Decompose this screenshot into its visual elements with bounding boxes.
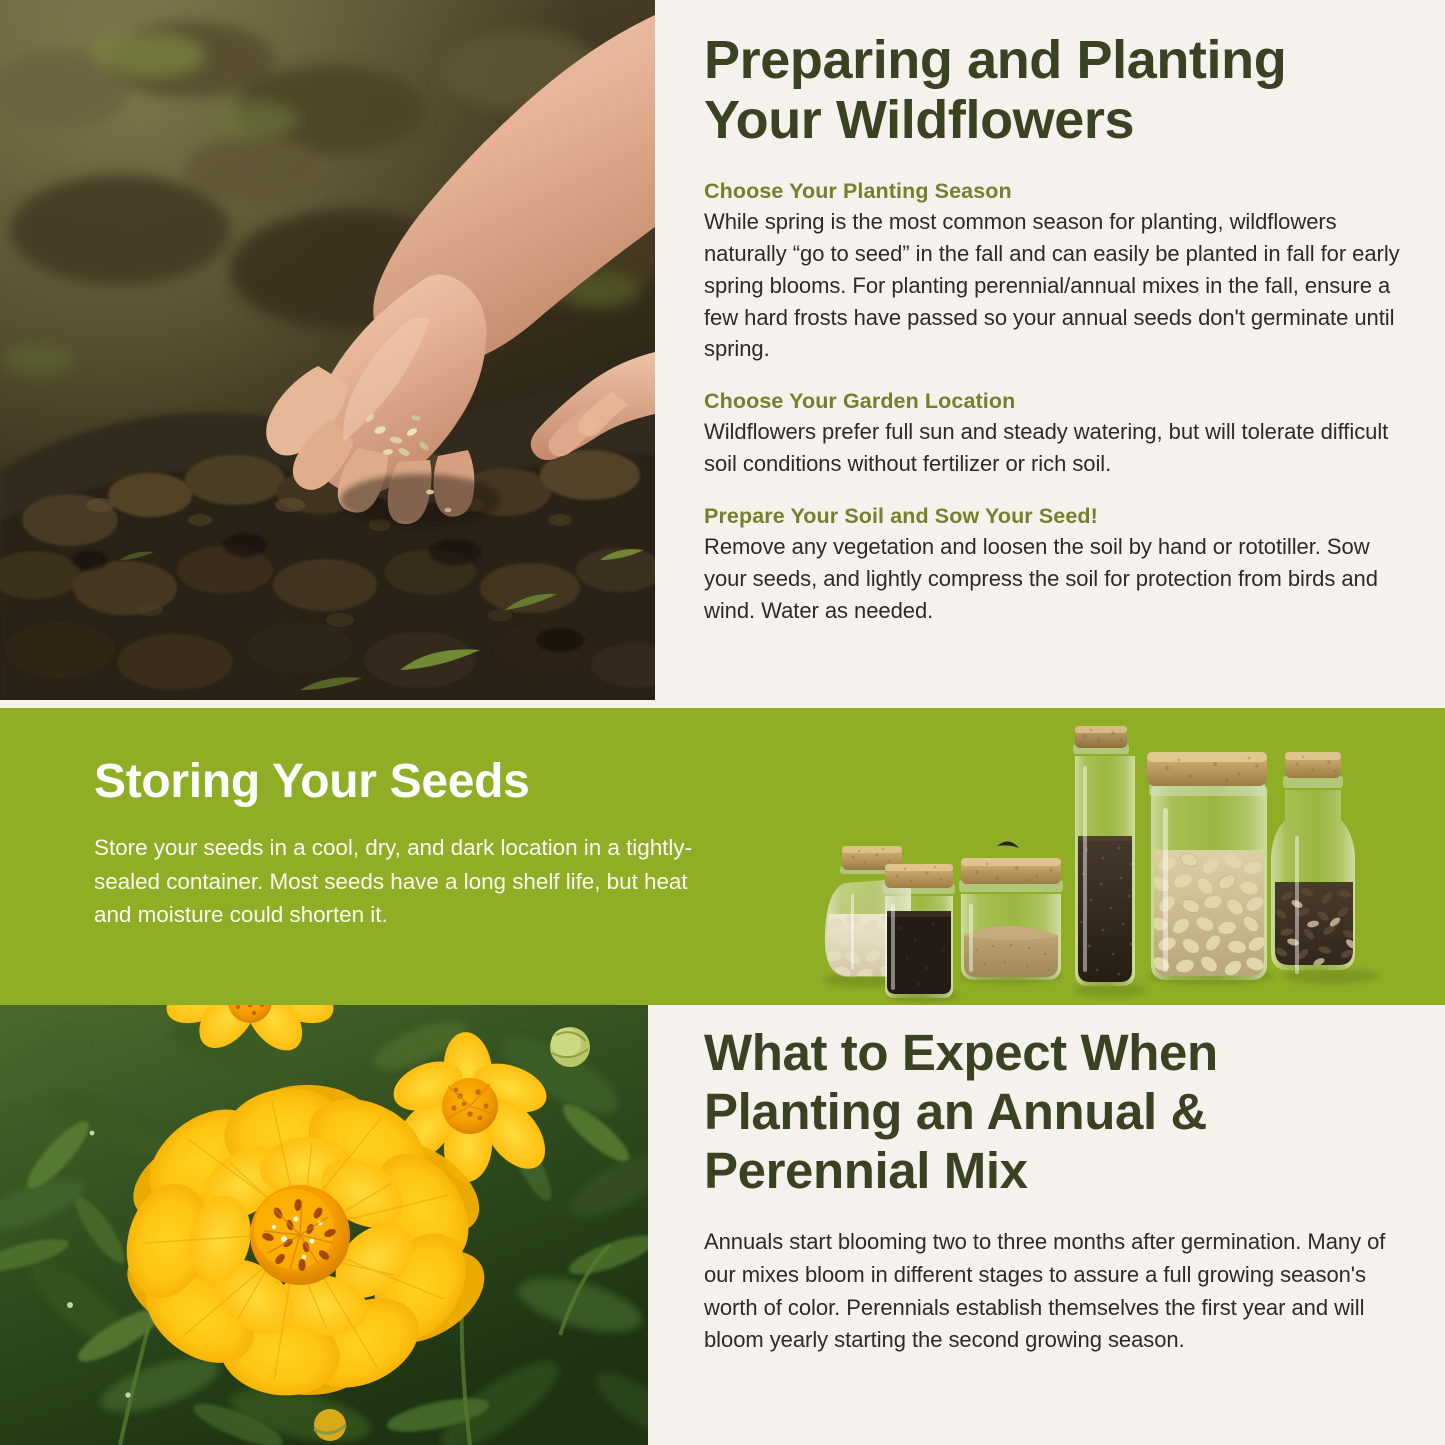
infographic-page: Preparing and Planting Your Wildflowers … [0, 0, 1445, 1445]
block-planting-season: Choose Your Planting Season While spring… [704, 178, 1404, 365]
paragraph-planting-season: While spring is the most common season f… [704, 206, 1404, 365]
storing-heading: Storing Your Seeds [94, 756, 714, 809]
yellow-flower-image [0, 1005, 648, 1445]
subheading-garden-location: Choose Your Garden Location [704, 388, 1404, 416]
paragraph-garden-location: Wildflowers prefer full sun and steady w… [704, 416, 1404, 480]
what-to-expect-paragraph: Annuals start blooming two to three mont… [704, 1226, 1404, 1356]
section-storing-your-seeds: Storing Your Seeds Store your seeds in a… [0, 708, 1445, 1005]
block-garden-location: Choose Your Garden Location Wildflowers … [704, 388, 1404, 480]
subheading-planting-season: Choose Your Planting Season [704, 178, 1404, 206]
jar-black-seeds [883, 864, 965, 1001]
page-title: Preparing and Planting Your Wildflowers [704, 0, 1404, 151]
subheading-prepare-soil: Prepare Your Soil and Sow Your Seed! [704, 503, 1404, 531]
flower-photo-graphic [0, 1005, 648, 1445]
storing-text-column: Storing Your Seeds Store your seeds in a… [94, 756, 714, 932]
hand-sowing-seeds-image [0, 0, 655, 700]
jar-sunflower-seeds [1271, 752, 1371, 992]
soil-photo-graphic [0, 0, 655, 700]
seed-jars-image [815, 718, 1445, 1005]
what-to-expect-heading: What to Expect When Planting an Annual &… [704, 1005, 1404, 1200]
section-preparing-and-planting: Preparing and Planting Your Wildflowers … [0, 0, 1445, 708]
block-prepare-soil: Prepare Your Soil and Sow Your Seed! Rem… [704, 503, 1404, 627]
section-what-to-expect: What to Expect When Planting an Annual &… [0, 1005, 1445, 1445]
what-to-expect-text-column: What to Expect When Planting an Annual &… [704, 1005, 1404, 1357]
paragraph-prepare-soil: Remove any vegetation and loosen the soi… [704, 531, 1404, 627]
seed-jars-graphic [815, 718, 1445, 1005]
preparing-text-column: Preparing and Planting Your Wildflowers … [704, 0, 1404, 708]
jar-tan-fine-seeds [959, 841, 1063, 986]
storing-paragraph: Store your seeds in a cool, dry, and dar… [94, 831, 714, 932]
